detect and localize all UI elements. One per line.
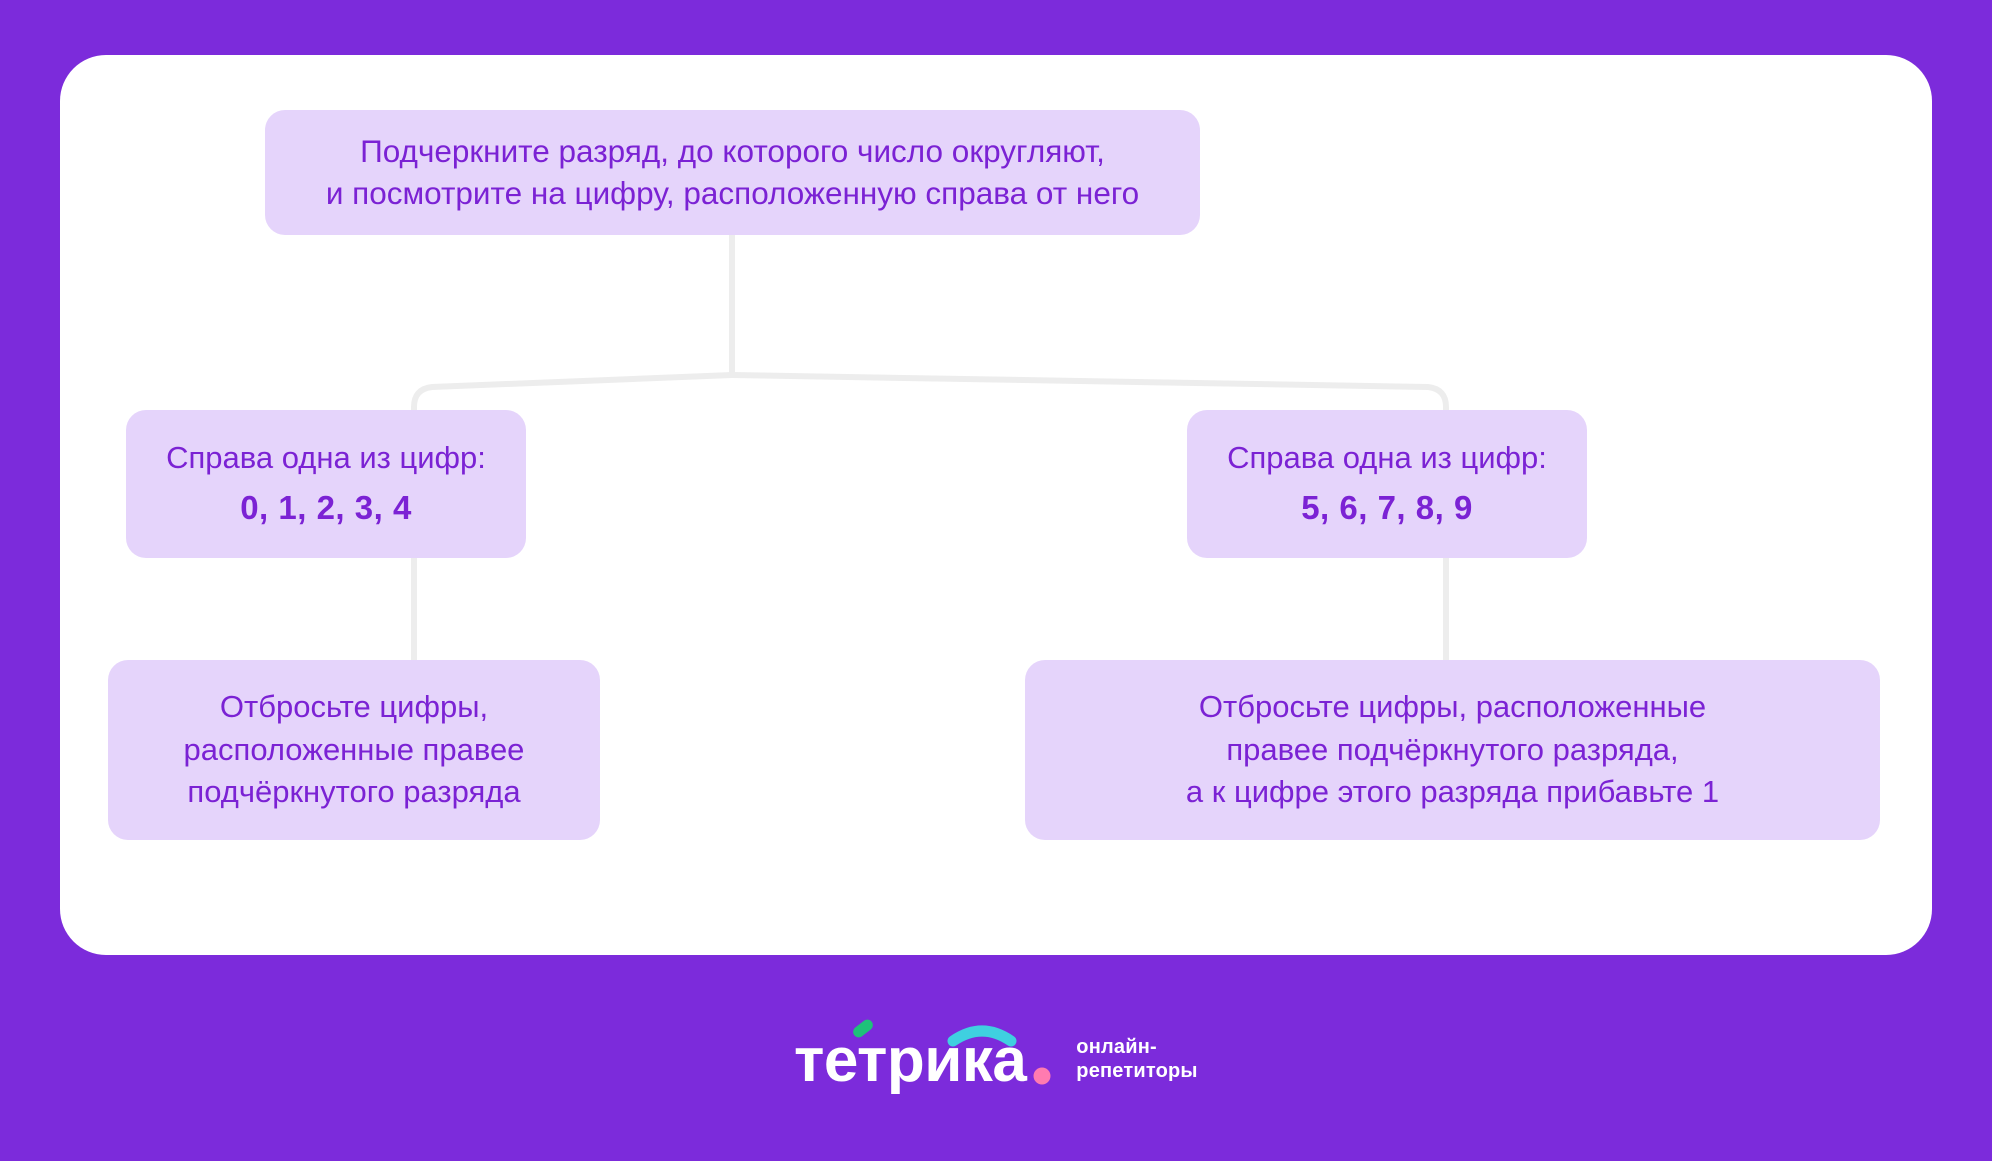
connector-root-to-left [414,375,732,410]
branch-1-action-line-2: расположенные правее [184,729,525,771]
root-line-1: Подчеркните разряд, до которого число ок… [360,131,1105,173]
logo-tagline-line-2: репетиторы [1076,1059,1197,1083]
brand-logo: тетрика онлайн- репетиторы [0,1000,1992,1110]
branch-2-condition-node: Справа одна из цифр: 5, 6, 7, 8, 9 [1187,410,1587,558]
rounding-rules-flowchart: Подчеркните разряд, до которого число ок… [60,55,1932,955]
connector-root-to-right [732,375,1446,410]
branch-1-action-line-1: Отбросьте цифры, [220,686,488,728]
branch-2-action-line-2: правее подчёркнутого разряда, [1226,729,1678,771]
branch-2-condition-caption: Справа одна из цифр: [1227,438,1547,478]
branch-1-action-line-3: подчёркнутого разряда [187,771,520,813]
branch-2-action-line-1: Отбросьте цифры, расположенные [1199,686,1706,728]
branch-2-action-node: Отбросьте цифры, расположенные правее по… [1025,660,1880,840]
branch-1-condition-node: Справа одна из цифр: 0, 1, 2, 3, 4 [126,410,526,558]
tetrika-wordmark-icon: тетрика [794,1015,1062,1095]
logo-wordmark-text: тетрика [794,1026,1027,1095]
logo-tagline-line-1: онлайн- [1076,1035,1197,1059]
content-card: Подчеркните разряд, до которого число ок… [60,55,1932,955]
logo-tagline: онлайн- репетиторы [1076,1027,1197,1084]
branch-2-condition-digits: 5, 6, 7, 8, 9 [1301,487,1473,530]
branch-1-condition-digits: 0, 1, 2, 3, 4 [240,487,412,530]
branch-1-condition-caption: Справа одна из цифр: [166,438,486,478]
logo-pink-dot-icon [1034,1068,1051,1085]
branch-1-action-node: Отбросьте цифры, расположенные правее по… [108,660,600,840]
flowchart-root-node: Подчеркните разряд, до которого число ок… [265,110,1200,235]
root-line-2: и посмотрите на цифру, расположенную спр… [326,173,1139,215]
branch-2-action-line-3: а к цифре этого разряда прибавьте 1 [1186,771,1719,813]
